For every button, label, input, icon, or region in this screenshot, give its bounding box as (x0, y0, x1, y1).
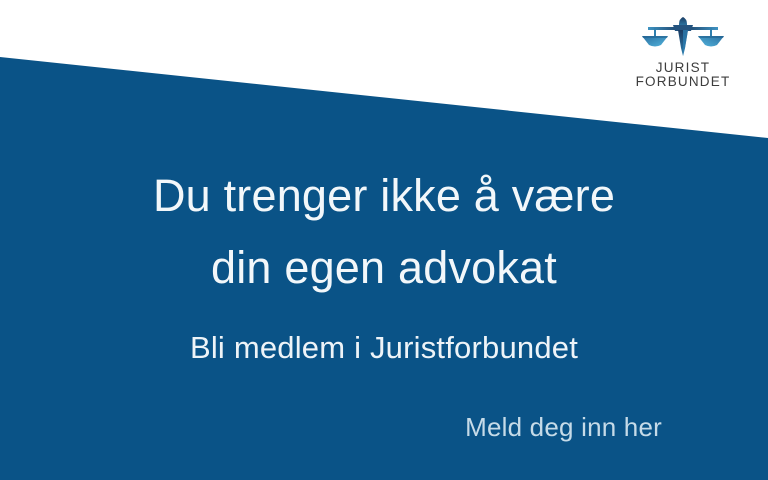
logo-wordmark-line2: FORBUNDET (620, 75, 746, 89)
signup-cta-link[interactable]: Meld deg inn her (465, 410, 662, 444)
logo-wordmark: JURIST FORBUNDET (620, 61, 746, 89)
headline: Du trenger ikke å være din egen advokat (0, 160, 768, 304)
juristforbundet-logo[interactable]: JURIST FORBUNDET (620, 14, 746, 89)
scales-of-justice-icon (640, 14, 726, 58)
logo-wordmark-line1: JURIST (620, 61, 746, 75)
headline-line-1: Du trenger ikke å være (0, 160, 768, 232)
headline-line-2: din egen advokat (0, 232, 768, 304)
subheading: Bli medlem i Juristforbundet (0, 328, 768, 368)
advertisement-banner[interactable]: JURIST FORBUNDET Du trenger ikke å være … (0, 0, 768, 480)
